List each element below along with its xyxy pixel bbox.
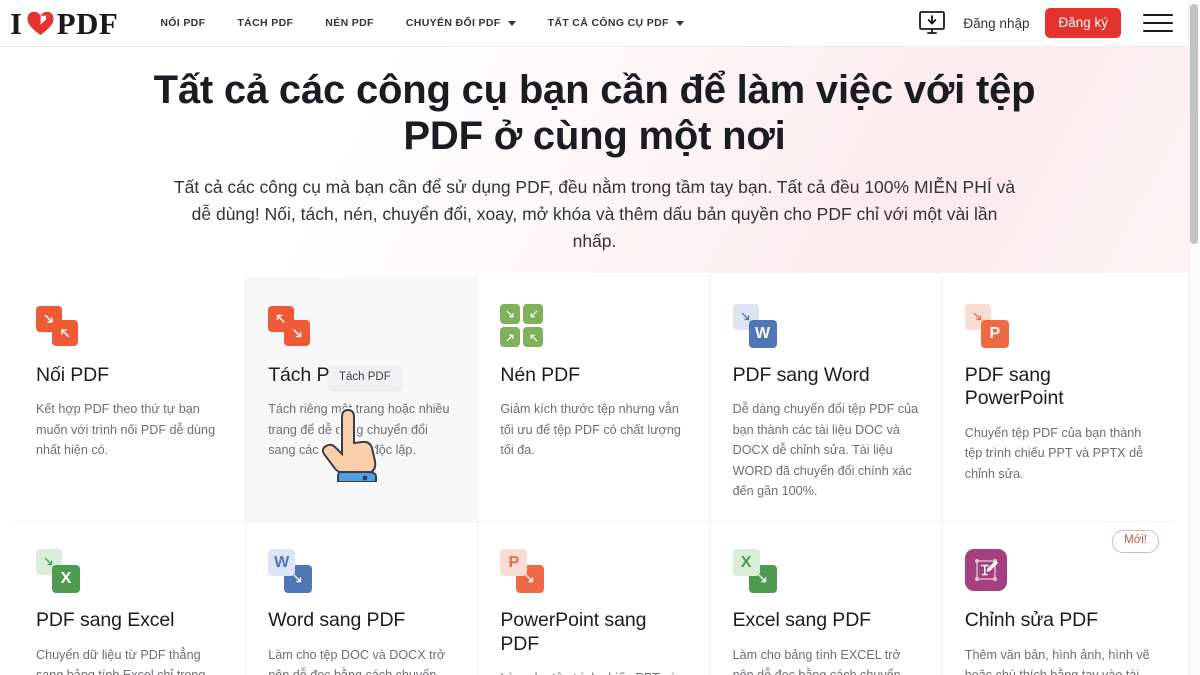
nav-item-all-tools[interactable]: TẤT CẢ CÔNG CỤ PDF (532, 0, 700, 47)
excel-letter: X (52, 565, 80, 593)
tool-card-pdf-to-excel[interactable]: X PDF sang Excel Chuyển dữ liệu từ PDF t… (14, 522, 246, 675)
page-root: I PDF NỐI PDF TÁCH PDF NÉN PDF CHUYỂN (0, 0, 1200, 675)
powerpoint-letter: P (981, 320, 1009, 348)
nav-label: NỐI PDF (160, 17, 205, 29)
chevron-down-icon (676, 21, 684, 26)
pdf-to-powerpoint-icon: P (965, 304, 1153, 350)
tool-card-pdf-to-powerpoint[interactable]: P PDF sang PowerPoint Chuyển tệp PDF của… (943, 277, 1175, 522)
hero-section: Tất cả các công cụ bạn cần để làm việc v… (0, 47, 1189, 256)
tool-card-pdf-to-word[interactable]: W PDF sang Word Dễ dàng chuyển đổi tệp P… (711, 277, 943, 522)
nav-item-split[interactable]: TÁCH PDF (221, 0, 309, 47)
tool-description: Giảm kích thước tệp nhưng vẫn tối ưu để … (500, 399, 687, 460)
tool-title: Excel sang PDF (733, 609, 920, 632)
tool-description: Tách riêng một trang hoặc nhiều trang để… (268, 399, 455, 460)
split-pdf-icon (268, 304, 455, 350)
tool-card-powerpoint-to-pdf[interactable]: P PowerPoint sang PDF Làm cho tệp trình … (478, 522, 710, 675)
hamburger-bar (1143, 22, 1173, 24)
word-to-pdf-icon: W (268, 549, 455, 595)
tool-description: Thêm văn bản, hình ảnh, hình vẽ hoặc chú… (965, 645, 1153, 675)
tools-grid: Nối PDF Kết hợp PDF theo thứ tự bạn muốn… (14, 277, 1175, 675)
powerpoint-to-pdf-icon: P (500, 549, 687, 595)
chevron-down-icon (508, 21, 516, 26)
tool-card-compress-pdf[interactable]: Nén PDF Giảm kích thước tệp nhưng vẫn tố… (478, 277, 710, 522)
pdf-to-excel-icon: X (36, 549, 223, 595)
tool-description: Kết hợp PDF theo thứ tự bạn muốn với trì… (36, 399, 223, 460)
hamburger-bar (1143, 30, 1173, 32)
nav-label: CHUYỂN ĐỔI PDF (406, 17, 501, 29)
tool-title: PDF sang Word (733, 364, 920, 387)
tool-description: Dễ dàng chuyển đổi tệp PDF của bạn thành… (733, 399, 920, 501)
tool-description: Chuyển tệp PDF của bạn thành tệp trình c… (965, 423, 1153, 484)
tool-description: Làm cho tệp trình chiếu PPT và PPTX trở … (500, 668, 687, 675)
nav-label: TÁCH PDF (237, 17, 293, 29)
signup-button[interactable]: Đăng ký (1045, 8, 1121, 38)
excel-to-pdf-icon: X (733, 549, 920, 595)
main-nav: NỐI PDF TÁCH PDF NÉN PDF CHUYỂN ĐỔI PDF … (144, 0, 699, 47)
nav-item-compress[interactable]: NÉN PDF (309, 0, 390, 47)
tool-title: PDF sang PowerPoint (965, 364, 1153, 411)
tool-title: Word sang PDF (268, 609, 455, 632)
page-title: Tất cả các công cụ bạn cần để làm việc v… (125, 67, 1065, 160)
nav-label: TẤT CẢ CÔNG CỤ PDF (548, 17, 669, 29)
logo-text-i: I (10, 8, 23, 39)
tool-title: PDF sang Excel (36, 609, 223, 632)
tool-description: Chuyển dữ liệu từ PDF thẳng sang bảng tí… (36, 645, 223, 675)
tool-description: Làm cho tệp DOC và DOCX trở nên dễ đọc b… (268, 645, 455, 675)
tool-description: Làm cho bảng tính EXCEL trở nên dễ đọc b… (733, 645, 920, 675)
tool-title: PowerPoint sang PDF (500, 609, 687, 656)
tool-title: Chỉnh sửa PDF (965, 609, 1153, 632)
logo-ilovepdf[interactable]: I PDF (10, 0, 118, 47)
tool-title: Nén PDF (500, 364, 687, 387)
tooltip-split-pdf: Tách PDF (329, 366, 401, 389)
hamburger-menu-icon[interactable] (1143, 10, 1173, 36)
hamburger-bar (1143, 14, 1173, 16)
logo-text-pdf: PDF (57, 8, 119, 39)
nav-item-merge[interactable]: NỐI PDF (144, 0, 221, 47)
tool-card-word-to-pdf[interactable]: W Word sang PDF Làm cho tệp DOC và DOCX … (246, 522, 478, 675)
tool-card-split-pdf[interactable]: Tách PDF Tách riêng một trang hoặc nhiều… (246, 277, 478, 522)
vertical-scrollbar-thumb[interactable] (1190, 4, 1198, 244)
word-letter: W (268, 549, 295, 576)
page-subtitle: Tất cả các công cụ mà bạn cần để sử dụng… (172, 174, 1017, 256)
site-header: I PDF NỐI PDF TÁCH PDF NÉN PDF CHUYỂN (0, 0, 1189, 47)
tool-card-edit-pdf[interactable]: Mới! Chỉnh sửa PDF Thêm văn bản, hình ản… (943, 522, 1175, 675)
nav-item-convert[interactable]: CHUYỂN ĐỔI PDF (390, 0, 532, 47)
powerpoint-letter: P (500, 549, 527, 576)
heart-icon (27, 11, 54, 36)
tool-title: Nối PDF (36, 364, 223, 387)
merge-pdf-icon (36, 304, 223, 350)
excel-letter: X (733, 549, 760, 576)
compress-pdf-icon (500, 304, 687, 350)
header-actions: Đăng nhập Đăng ký (915, 8, 1189, 38)
desktop-download-icon[interactable] (915, 8, 949, 38)
tool-card-excel-to-pdf[interactable]: X Excel sang PDF Làm cho bảng tính EXCEL… (711, 522, 943, 675)
nav-label: NÉN PDF (325, 17, 374, 29)
login-link[interactable]: Đăng nhập (963, 16, 1029, 31)
edit-pdf-icon (965, 549, 1153, 595)
pdf-to-word-icon: W (733, 304, 920, 350)
word-letter: W (749, 320, 777, 348)
tool-card-merge-pdf[interactable]: Nối PDF Kết hợp PDF theo thứ tự bạn muốn… (14, 277, 246, 522)
